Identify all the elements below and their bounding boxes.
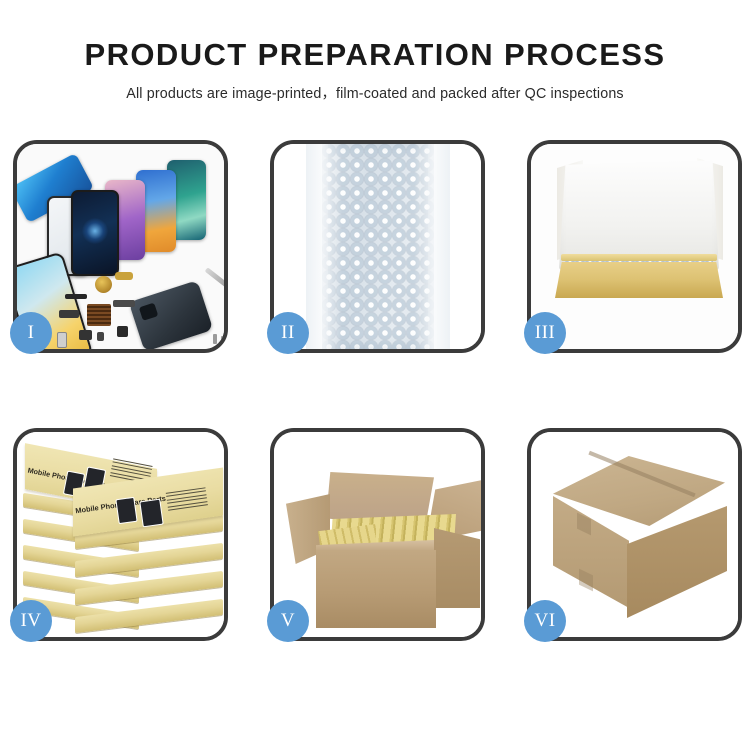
small-component-part <box>97 332 104 341</box>
step-2-image <box>274 144 481 349</box>
step-badge-2: II <box>267 312 309 354</box>
step-4-image: Mobile Phone Spare Parts Mobile Phone Sp… <box>17 432 224 637</box>
speaker-strip-part <box>65 294 87 299</box>
step-3-image <box>531 144 738 349</box>
speaker-part <box>79 330 92 340</box>
step-badge-4: IV <box>10 600 52 642</box>
sealed-carton-scene <box>531 432 738 637</box>
phone-display-dark <box>71 190 119 276</box>
inner-box-scene <box>531 144 738 349</box>
step-badge-1: I <box>10 312 52 354</box>
step-6-image <box>531 432 738 637</box>
flex-cable-part-3 <box>59 310 79 318</box>
box-front-lip <box>561 254 717 261</box>
step-5-image <box>274 432 481 637</box>
page-subtitle: All products are image-printed，film-coat… <box>0 72 750 103</box>
page-header: PRODUCT PREPARATION PROCESS All products… <box>0 0 750 103</box>
stacked-boxes-scene: Mobile Phone Spare Parts Mobile Phone Sp… <box>17 432 224 637</box>
carton-side-panel <box>434 528 480 608</box>
step-1-image <box>17 144 224 349</box>
process-step-3: III <box>527 140 742 353</box>
carton-filling-scene <box>274 432 481 637</box>
step-badge-3: III <box>524 312 566 354</box>
stacked-box-right-2 <box>75 543 223 577</box>
coil-part-icon <box>95 276 112 293</box>
screw-part-2 <box>221 336 224 346</box>
page-title: PRODUCT PREPARATION PROCESS <box>0 0 750 72</box>
box-screen-image-4 <box>139 499 163 528</box>
kraft-box-body <box>555 262 723 298</box>
bubble-sheet-edge-right <box>428 144 450 349</box>
tweezers-tool <box>205 267 224 289</box>
bubble-wrap-sheet <box>322 144 434 349</box>
carton-front-panel <box>316 550 436 628</box>
process-step-5: V <box>270 428 485 641</box>
process-step-4: Mobile Phone Spare Parts Mobile Phone Sp… <box>13 428 228 641</box>
flex-cable-part-2 <box>113 300 135 307</box>
box-screen-image-3 <box>115 497 137 524</box>
step-badge-6: VI <box>524 600 566 642</box>
process-step-1: I <box>13 140 228 353</box>
stacked-box-right-4 <box>75 599 223 633</box>
phone-parts-scene <box>17 144 224 349</box>
step-badge-5: V <box>267 600 309 642</box>
process-step-grid: I II III <box>13 140 741 682</box>
process-step-6: VI <box>527 428 742 641</box>
camera-module-part <box>117 326 128 337</box>
bubble-sheet-edge-left <box>306 144 328 349</box>
stacked-box-right-3 <box>75 571 223 605</box>
screw-part-1 <box>213 334 217 344</box>
connector-chip-part <box>87 304 111 326</box>
phone-back-housing <box>129 280 214 349</box>
process-step-2: II <box>270 140 485 353</box>
button-part <box>57 332 67 348</box>
flex-cable-part-1 <box>115 272 133 280</box>
bubble-wrap-scene <box>274 144 481 349</box>
